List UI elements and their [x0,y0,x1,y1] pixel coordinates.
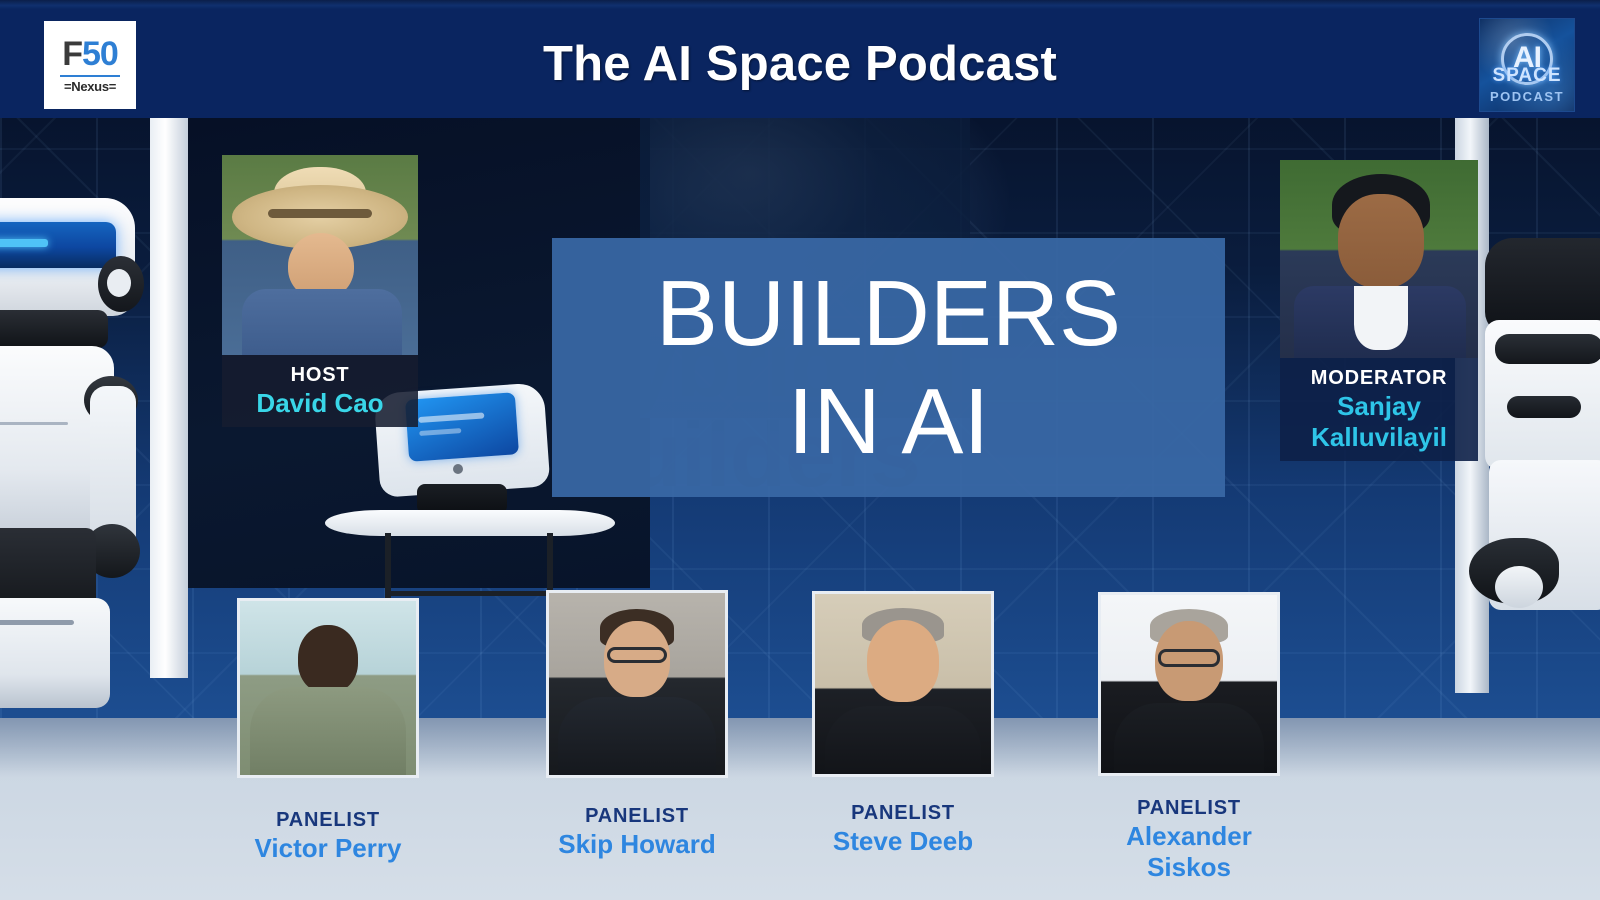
f50-logo-50: 50 [82,35,118,73]
host-shirt [242,289,402,355]
moderator-name-plate: MODERATOR Sanjay Kalluvilayil [1280,358,1478,461]
panelist-4-body [1114,703,1264,776]
person-card-host[interactable]: HOST David Cao [222,155,418,427]
f50-logo-text: F50 [62,37,118,71]
panelist-1-name: Victor Perry [239,833,417,864]
f50-nexus-logo[interactable]: F50 =Nexus= [44,21,136,109]
panelist-3-body [825,706,981,777]
top-accent-strip [0,0,1600,9]
panelist-2-role-label: PANELIST [548,804,726,829]
page-title: The AI Space Podcast [543,36,1057,92]
panelist-3-name: Steve Deeb [814,826,992,857]
panelist-1-role-label: PANELIST [239,808,417,833]
f50-logo-nexus: =Nexus= [64,79,116,94]
host-hat-band [268,209,372,218]
robot-right-mouth-band [1507,396,1581,418]
banner-line-1: BUILDERS [656,260,1121,368]
robot-right-hand [1469,538,1559,604]
robot-left [0,198,180,718]
f50-logo-f: F [62,35,82,73]
panelist-1-head [298,625,358,693]
header-bar: The AI Space Podcast [0,9,1600,118]
host-role-label: HOST [224,363,416,388]
ai-logo-letters: AI [1513,41,1541,75]
kiosk-screen [405,392,519,462]
person-card-panelist-3[interactable]: PANELIST Steve Deeb [812,591,994,865]
panelist-3-role-label: PANELIST [814,801,992,826]
panelist-3-photo [812,591,994,777]
person-card-panelist-2[interactable]: PANELIST Skip Howard [546,590,728,868]
robot-right [1485,238,1600,708]
moderator-photo [1280,160,1478,358]
panelist-3-head [867,620,939,702]
kiosk-camera-icon [453,464,463,474]
panelist-2-body [558,697,716,778]
f50-logo-divider [60,75,120,77]
panelist-4-glasses-icon [1158,649,1220,667]
moderator-name-line2: Kalluvilayil [1282,422,1476,453]
host-name: David Cao [224,388,416,419]
host-name-plate: HOST David Cao [222,355,418,427]
moderator-shirt [1354,286,1408,350]
robot-left-neck [0,310,108,348]
panelist-3-name-plate: PANELIST Steve Deeb [812,777,994,865]
panelist-4-name-plate: PANELIST Alexander Siskos [1098,776,1280,891]
moderator-name-line1: Sanjay [1282,391,1476,422]
banner-line-2: IN AI [788,368,990,476]
panelist-4-name-line1: Alexander [1100,821,1278,852]
panelist-2-photo [546,590,728,778]
ai-space-podcast-logo[interactable]: AI SPACE PODCAST [1479,18,1575,112]
panelist-1-name-plate: PANELIST Victor Perry [237,778,419,872]
panelist-2-glasses-icon [607,647,667,663]
person-card-moderator[interactable]: MODERATOR Sanjay Kalluvilayil [1280,160,1478,461]
ai-logo-podcast-text: PODCAST [1480,89,1574,104]
person-card-panelist-1[interactable]: PANELIST Victor Perry [237,598,419,872]
panelist-2-name-plate: PANELIST Skip Howard [546,778,728,868]
title-banner: BUILDERS IN AI [552,238,1225,497]
panelist-2-name: Skip Howard [548,829,726,860]
panelist-4-role-label: PANELIST [1100,796,1278,821]
moderator-face [1338,194,1424,288]
robot-left-visor [0,222,116,268]
podcast-slide: The AI Space Podcast F50 =Nexus= AI SPAC… [0,0,1600,900]
person-card-panelist-4[interactable]: PANELIST Alexander Siskos [1098,592,1280,891]
panelist-1-body [250,687,406,778]
robot-left-ear [98,256,144,312]
moderator-role-label: MODERATOR [1282,366,1476,391]
robot-left-base [0,598,110,708]
host-photo [222,155,418,355]
panelist-4-photo [1098,592,1280,776]
robot-right-visor-band [1495,334,1600,364]
panelist-4-name-line2: Siskos [1100,852,1278,883]
panelist-1-photo [237,598,419,778]
